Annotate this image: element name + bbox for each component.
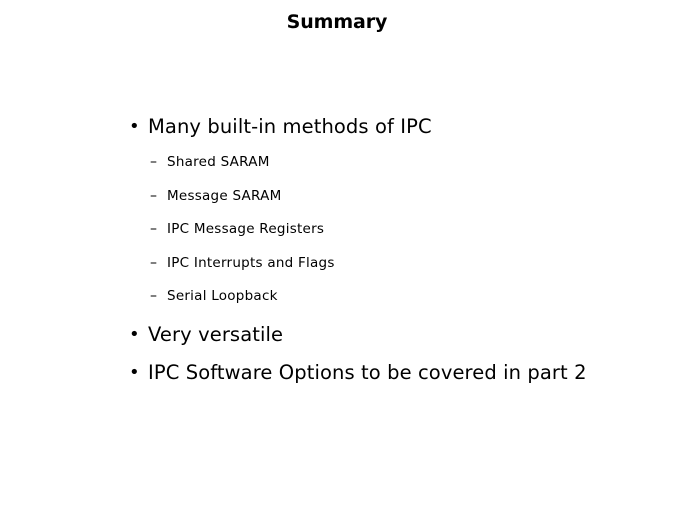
bullet-dash-icon: – — [150, 218, 157, 240]
bullet-label: Very versatile — [148, 321, 674, 348]
bullet-item-level2: – IPC Message Registers — [0, 218, 674, 252]
bullet-label: Many built-in methods of IPC — [148, 113, 674, 140]
bullet-item-level2: – Shared SARAM — [0, 151, 674, 185]
bullet-item-level1: • Very versatile — [0, 321, 674, 359]
bullet-label: IPC Software Options to be covered in pa… — [148, 359, 674, 386]
bullet-dot-icon: • — [129, 359, 140, 386]
bullet-dot-icon: • — [129, 321, 140, 348]
bullet-label: Message SARAM — [167, 185, 674, 207]
bullet-item-level1: • Many built-in methods of IPC — [0, 113, 674, 151]
bullet-label: IPC Interrupts and Flags — [167, 252, 674, 274]
presentation-slide: Summary • Many built-in methods of IPC –… — [0, 0, 674, 506]
slide-bullet-list: • Many built-in methods of IPC – Shared … — [0, 113, 674, 397]
bullet-item-level2: – Message SARAM — [0, 185, 674, 219]
bullet-item-level2: – Serial Loopback — [0, 285, 674, 319]
bullet-dash-icon: – — [150, 151, 157, 173]
bullet-dash-icon: – — [150, 185, 157, 207]
page-title: Summary — [0, 10, 674, 34]
bullet-dash-icon: – — [150, 252, 157, 274]
bullet-item-level1: • IPC Software Options to be covered in … — [0, 359, 674, 397]
bullet-item-level2: – IPC Interrupts and Flags — [0, 252, 674, 286]
bullet-label: IPC Message Registers — [167, 218, 674, 240]
bullet-label: Shared SARAM — [167, 151, 674, 173]
bullet-label: Serial Loopback — [167, 285, 674, 307]
bullet-dash-icon: – — [150, 285, 157, 307]
bullet-dot-icon: • — [129, 113, 140, 140]
